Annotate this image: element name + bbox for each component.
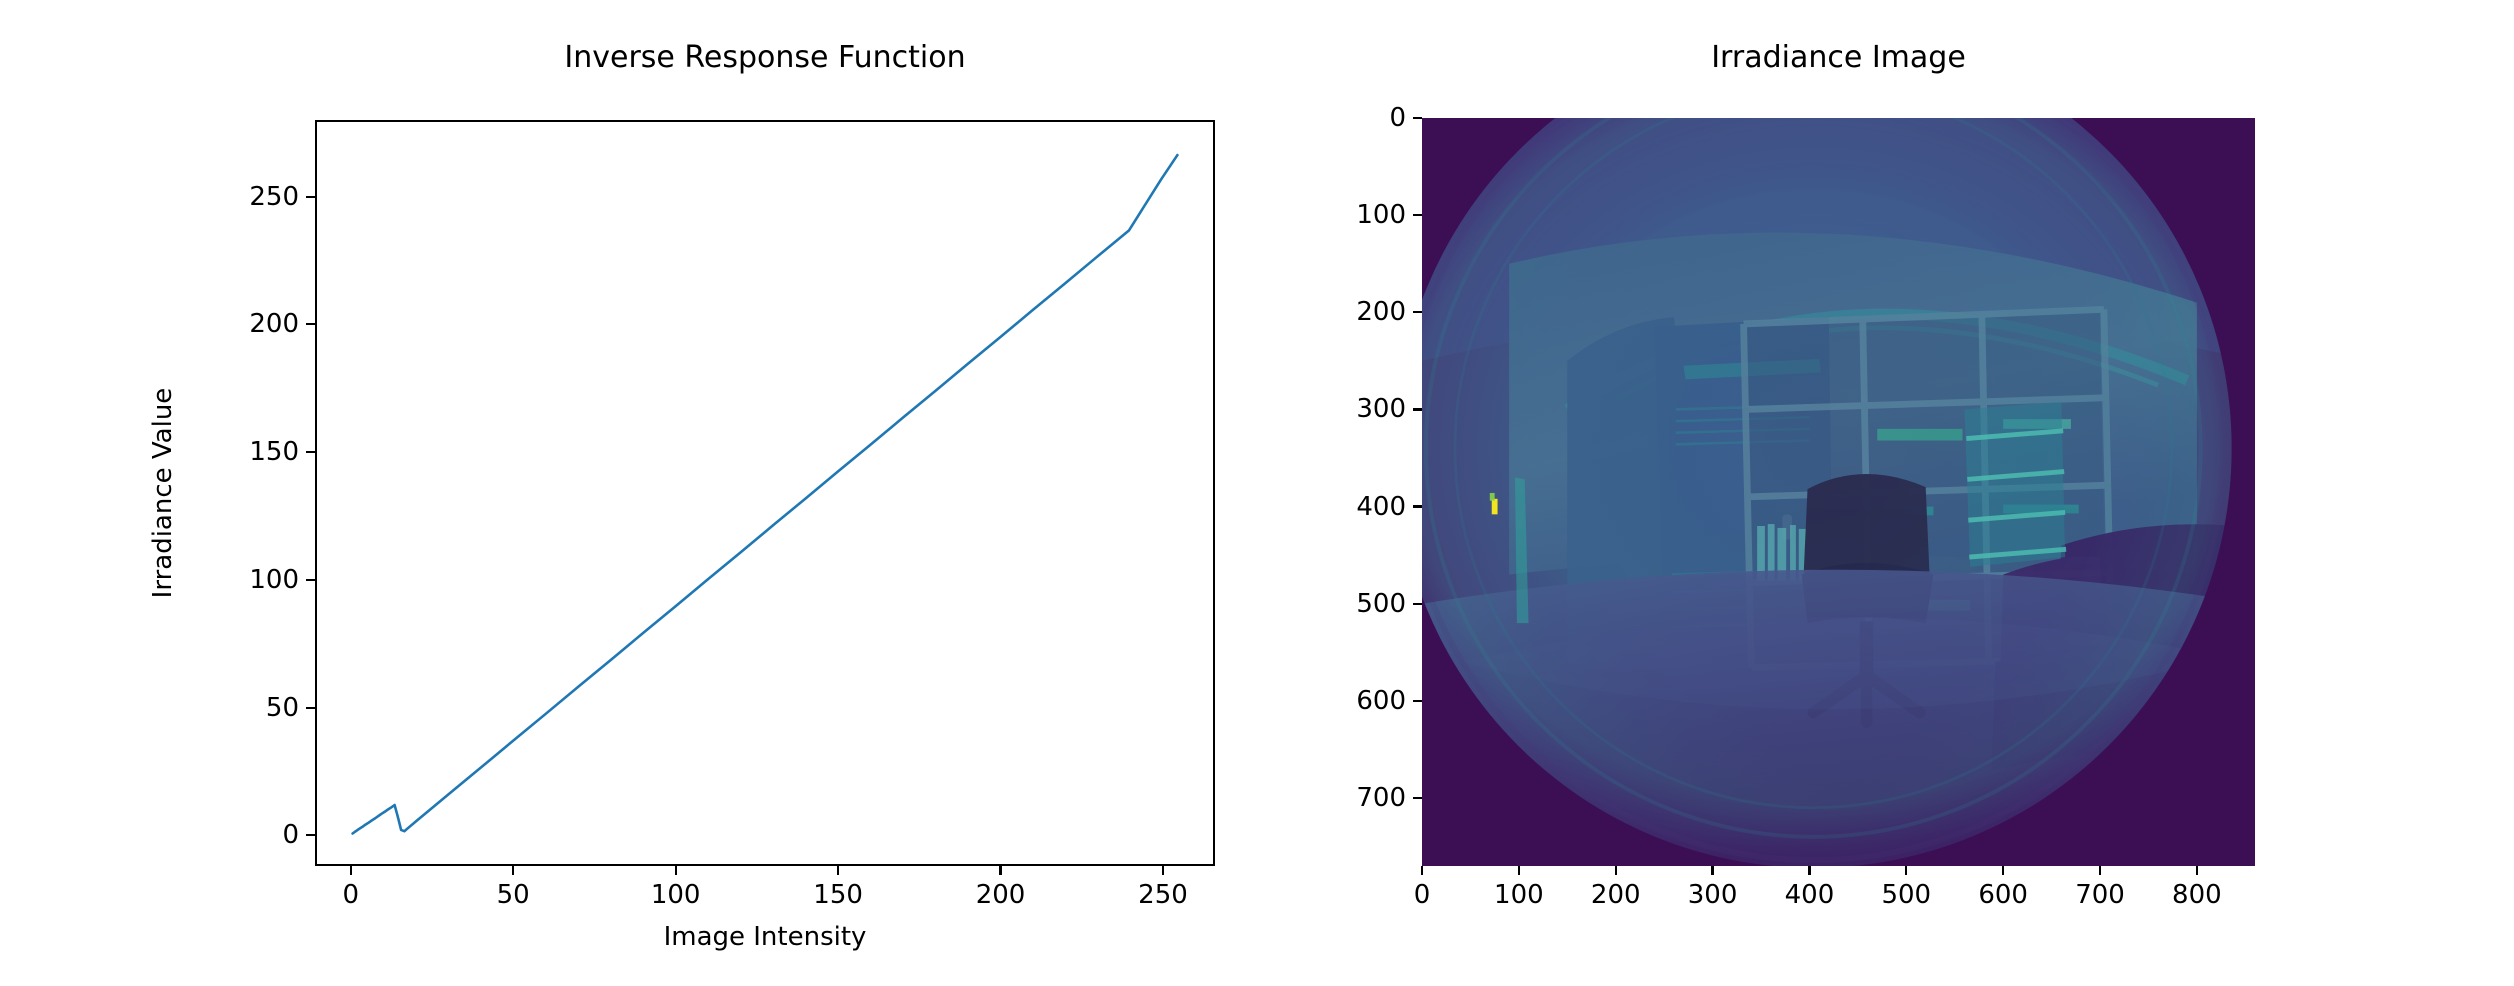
left-x-tick (837, 866, 839, 875)
left-y-tick (306, 579, 315, 581)
right-y-tick (1413, 603, 1422, 605)
right-x-tick-label: 200 (1591, 880, 1641, 910)
left-y-tick (306, 451, 315, 453)
inverse-response-line (353, 155, 1178, 833)
left-y-tick-label: 100 (249, 565, 299, 595)
left-y-tick-label: 50 (266, 693, 299, 723)
right-y-tick (1413, 117, 1422, 119)
specular-highlight (1492, 499, 1498, 515)
left-y-axis-label: Irradiance Value (148, 388, 178, 599)
right-x-tick-label: 500 (1881, 880, 1931, 910)
right-y-tick-label: 0 (1389, 103, 1406, 133)
left-x-tick-label: 150 (813, 880, 863, 910)
right-x-tick (2002, 866, 2004, 875)
left-x-tick-label: 200 (976, 880, 1026, 910)
right-y-tick (1413, 797, 1422, 799)
right-y-tick (1413, 505, 1422, 507)
right-x-tick (1711, 866, 1713, 875)
right-x-tick-label: 700 (2075, 880, 2125, 910)
left-x-axis-label: Image Intensity (664, 922, 867, 952)
irradiance-image-svg (1422, 118, 2255, 866)
right-x-tick-label: 0 (1414, 880, 1431, 910)
inverse-response-curve-svg (317, 122, 1213, 864)
right-plot-title: Irradiance Image (1711, 40, 1966, 75)
right-y-tick-label: 500 (1356, 589, 1406, 619)
right-x-tick (1808, 866, 1810, 875)
left-y-tick (306, 323, 315, 325)
right-x-tick (2196, 866, 2198, 875)
left-x-tick (1162, 866, 1164, 875)
right-x-tick (1905, 866, 1907, 875)
right-y-tick (1413, 311, 1422, 313)
left-y-tick (306, 834, 315, 836)
right-x-tick-label: 300 (1688, 880, 1738, 910)
right-y-tick-label: 100 (1356, 200, 1406, 230)
right-y-tick (1413, 214, 1422, 216)
matplotlib-figure: Inverse Response Function Irradiance Val… (0, 0, 2514, 986)
left-y-tick (306, 196, 315, 198)
left-x-tick-label: 50 (497, 880, 530, 910)
left-axes-frame (315, 120, 1215, 866)
right-y-tick-label: 200 (1356, 297, 1406, 327)
left-y-tick-label: 200 (249, 309, 299, 339)
left-x-tick-label: 250 (1138, 880, 1188, 910)
right-x-tick (1518, 866, 1520, 875)
left-x-tick-label: 100 (651, 880, 701, 910)
right-y-tick-label: 700 (1356, 783, 1406, 813)
right-x-tick (1615, 866, 1617, 875)
right-x-tick-label: 100 (1494, 880, 1544, 910)
irradiance-image (1422, 118, 2255, 866)
left-x-tick (350, 866, 352, 875)
right-y-tick (1413, 700, 1422, 702)
right-y-tick (1413, 408, 1422, 410)
left-x-tick (675, 866, 677, 875)
right-x-tick (2099, 866, 2101, 875)
right-x-tick-label: 800 (2172, 880, 2222, 910)
right-y-tick-label: 400 (1356, 492, 1406, 522)
right-y-tick-label: 300 (1356, 394, 1406, 424)
right-x-tick-label: 600 (1978, 880, 2028, 910)
left-x-tick-label: 0 (342, 880, 359, 910)
left-y-tick-label: 250 (249, 182, 299, 212)
left-x-tick (512, 866, 514, 875)
right-x-tick (1421, 866, 1423, 875)
left-x-tick (999, 866, 1001, 875)
left-plot-title: Inverse Response Function (564, 40, 965, 75)
left-y-tick-label: 150 (249, 437, 299, 467)
irradiance-image-axes (1422, 118, 2255, 866)
left-y-tick-label: 0 (282, 820, 299, 850)
right-x-tick-label: 400 (1785, 880, 1835, 910)
right-y-tick-label: 600 (1356, 686, 1406, 716)
left-y-tick (306, 707, 315, 709)
